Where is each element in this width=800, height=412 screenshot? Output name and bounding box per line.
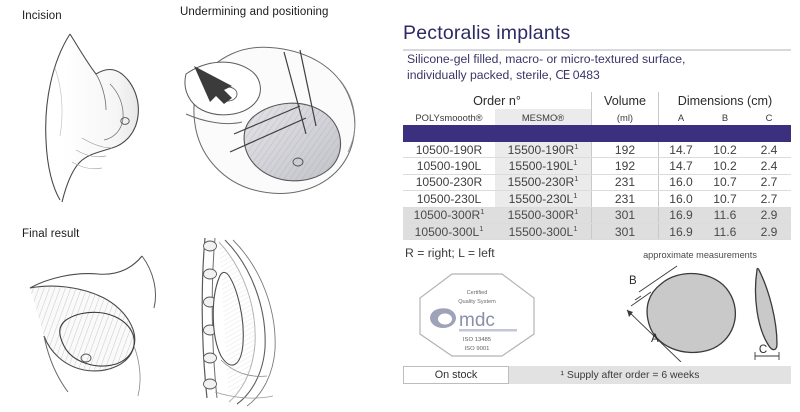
cell-volume: 231 — [592, 174, 659, 190]
cell-c: 2.7 — [747, 174, 791, 190]
header-order-number: Order n° — [403, 92, 592, 109]
dimension-label-b: B — [629, 275, 637, 287]
table-row: 10500-300R115500-300R130116.911.62.9 — [403, 207, 791, 223]
illustration-final-result-label: Final result — [22, 228, 182, 240]
supply-footnote-marker: 1 — [574, 174, 578, 183]
on-stock-badge: On stock — [403, 366, 509, 384]
cell-volume: 192 — [592, 158, 659, 174]
cell-mesmo: 15500-230L1 — [495, 191, 592, 207]
cell-a: 16.9 — [659, 223, 704, 239]
cell-b: 10.2 — [703, 158, 747, 174]
supply-footnote-marker: 1 — [574, 142, 578, 151]
table-row: 10500-190R15500-190R119214.710.22.4 — [403, 142, 791, 158]
table-header-groups: Order n° Volume Dimensions (cm) — [403, 92, 791, 109]
supply-note: ¹ Supply after order = 6 weeks — [509, 370, 791, 381]
cell-b: 10.7 — [703, 191, 747, 207]
table-row: 10500-230L15500-230L123116.010.72.7 — [403, 191, 791, 207]
cell-volume: 231 — [592, 191, 659, 207]
product-description: Silicone-gel filled, macro- or micro-tex… — [407, 52, 791, 83]
catalog-page: Incision — [0, 0, 800, 412]
mdc-iso-2: ISO 9001 — [465, 346, 490, 352]
cell-b: 10.7 — [703, 174, 747, 190]
mdc-line-2: Quality System — [458, 299, 496, 305]
illustration-undermining-label: Undermining and positioning — [180, 6, 390, 18]
supply-footnote-marker: 1 — [479, 224, 483, 233]
availability-footer: On stock ¹ Supply after order = 6 weeks — [403, 366, 791, 384]
supply-footnote-marker: 1 — [573, 191, 577, 200]
implant-front-view — [647, 274, 735, 353]
illustration-final-result: Final result — [22, 228, 182, 408]
cell-mesmo: 15500-190L1 — [495, 158, 592, 174]
implant-side-view — [756, 269, 778, 350]
cell-poly: 10500-190L — [403, 158, 495, 174]
cell-a: 16.9 — [659, 207, 704, 223]
title-divider — [403, 49, 791, 51]
accent-bar — [403, 125, 791, 142]
description-line-1: Silicone-gel filled, macro- or micro-tex… — [407, 52, 685, 66]
cell-c: 2.4 — [747, 142, 791, 158]
cell-c: 2.9 — [747, 223, 791, 239]
dimension-label-c: C — [759, 344, 767, 356]
cell-c: 2.4 — [747, 158, 791, 174]
cell-mesmo: 15500-300R1 — [495, 207, 592, 223]
illustration-incision: Incision — [22, 10, 172, 210]
cell-a: 14.7 — [659, 158, 704, 174]
specifications-table: Order n° Volume Dimensions (cm) POLYsmoo… — [403, 92, 791, 240]
illustration-incision-label: Incision — [22, 10, 172, 22]
approximate-measurements-note: approximate measurements — [610, 250, 790, 260]
cell-poly: 10500-190R — [403, 142, 495, 158]
cell-c: 2.9 — [747, 207, 791, 223]
table-header-subs: POLYsmoooth® MESMO® (ml) A B C — [403, 109, 791, 125]
description-line-2: individually packed, sterile, — [407, 68, 555, 82]
table-row: 10500-190L15500-190L119214.710.22.4 — [403, 158, 791, 174]
cell-c: 2.7 — [747, 191, 791, 207]
cell-poly: 10500-230R — [403, 174, 495, 190]
cell-volume: 301 — [592, 207, 659, 223]
header-volume: Volume — [592, 92, 659, 109]
cell-b: 10.2 — [703, 142, 747, 158]
header-dimensions: Dimensions (cm) — [659, 92, 792, 109]
sagittal-cross-section-illustration — [185, 232, 385, 408]
page-title: Pectoralis implants — [403, 22, 570, 45]
cell-mesmo: 15500-300L1 — [495, 223, 592, 239]
cell-b: 11.6 — [703, 223, 747, 239]
product-data-panel: Pectoralis implants Silicone-gel filled,… — [395, 0, 800, 412]
mdc-line-1: Certified — [467, 290, 488, 296]
implant-dimension-diagram: B A C — [617, 262, 792, 367]
cell-mesmo: 15500-230R1 — [495, 174, 592, 190]
header-dimension-c: C — [747, 109, 791, 125]
ce-mark-icon: CE — [555, 68, 569, 82]
dimension-label-a: A — [651, 333, 659, 345]
table-row: 10500-230R15500-230R123116.010.72.7 — [403, 174, 791, 190]
mdc-certification-logo: Certified Quality System mdc ISO 13485 I… — [417, 272, 537, 363]
accent-bar-row — [403, 125, 791, 142]
table-row: 10500-300L115500-300L130116.911.62.9 — [403, 223, 791, 239]
cell-poly: 10500-300L1 — [403, 223, 495, 239]
header-mesmo: MESMO® — [495, 109, 592, 125]
cell-poly: 10500-230L — [403, 191, 495, 207]
header-dimension-b: B — [703, 109, 747, 125]
supply-footnote-marker: 1 — [573, 224, 577, 233]
cell-a: 16.0 — [659, 191, 704, 207]
illustration-undermining: Undermining and positioning — [180, 6, 390, 211]
cell-volume: 301 — [592, 223, 659, 239]
illustration-cross-section — [185, 232, 390, 410]
cell-mesmo: 15500-190R1 — [495, 142, 592, 158]
torso-lateral-illustration — [22, 28, 172, 208]
implant-final-result-illustration — [22, 246, 182, 406]
supply-footnote-marker: 1 — [574, 207, 578, 216]
cell-poly: 10500-300R1 — [403, 207, 495, 223]
cell-a: 16.0 — [659, 174, 704, 190]
supply-footnote-marker: 1 — [480, 207, 484, 216]
table-body: 10500-190R15500-190R119214.710.22.410500… — [403, 125, 791, 240]
surgical-undermining-illustration — [180, 22, 388, 212]
cell-volume: 192 — [592, 142, 659, 158]
supply-footnote-marker: 1 — [573, 158, 577, 167]
header-dimension-a: A — [659, 109, 704, 125]
illustration-panel: Incision — [0, 0, 395, 412]
mdc-iso-1: ISO 13485 — [463, 337, 492, 343]
mdc-brand: mdc — [459, 310, 495, 331]
ce-number: 0483 — [573, 68, 600, 82]
table-legend: R = right; L = left — [405, 246, 495, 260]
cell-a: 14.7 — [659, 142, 704, 158]
cell-b: 11.6 — [703, 207, 747, 223]
header-volume-unit: (ml) — [592, 109, 659, 125]
header-polysmooth: POLYsmoooth® — [403, 109, 495, 125]
